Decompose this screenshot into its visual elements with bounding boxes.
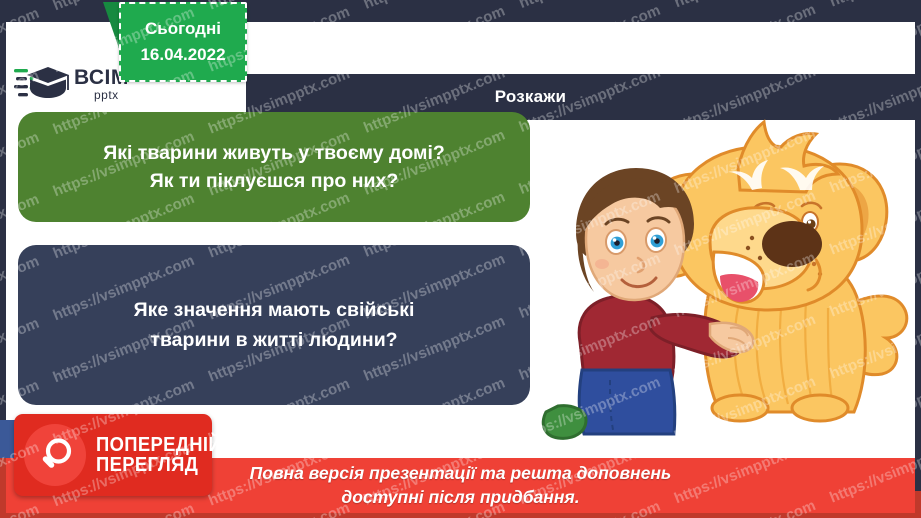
preview-badge[interactable]: ПОПЕРЕДНІЙ ПЕРЕГЛЯД [14,414,212,496]
boy-hugging-dog-illustration [524,112,915,460]
question-card-green: Які тварини живуть у твоєму домі? Як ти … [18,112,530,222]
graduation-cap-icon [14,64,70,104]
question-green-line-2: Як ти піклуєшся про них? [150,167,399,195]
preview-badge-line-1: ПОПЕРЕДНІЙ [96,435,222,455]
date-badge-label: Сьогодні [145,19,221,39]
purchase-notice-line-1: Повна версія презентації та решта доповн… [250,462,672,486]
purchase-notice-line-2: доступні після придбання. [341,486,579,510]
preview-badge-line-2: ПЕРЕГЛЯД [96,455,222,475]
question-dark-line-1: Яке значення мають свійські [134,295,415,325]
question-green-line-1: Які тварини живуть у твоєму домі? [103,139,445,167]
question-card-dark: Яке значення мають свійські тварини в жи… [18,245,530,405]
date-badge: Сьогодні 16.04.2022 [119,2,247,82]
date-badge-value: 16.04.2022 [140,45,225,65]
question-dark-line-2: тварини в житті людини? [150,325,397,355]
logo-subtitle: pptx [94,89,129,101]
magnifier-icon [24,424,86,486]
slide-root: Розкажи ВСІМ pptx [0,0,921,518]
